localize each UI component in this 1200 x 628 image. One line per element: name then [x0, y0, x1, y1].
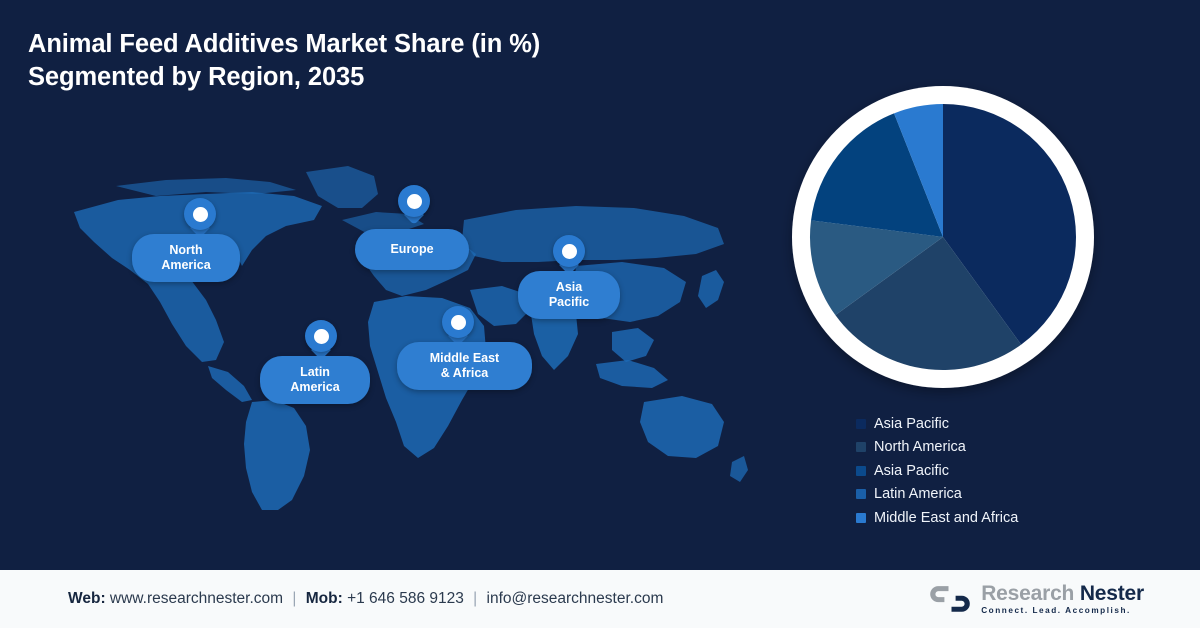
pie-chart: 40% — [770, 78, 1120, 408]
location-pin-icon — [398, 185, 430, 217]
research-nester-logo[interactable]: Research Nester Connect. Lead. Accomplis… — [928, 583, 1144, 615]
logo-name-first: Research — [981, 582, 1074, 605]
map-label-asia-pacific[interactable]: Asia Pacific — [518, 271, 620, 319]
logo-tagline: Connect. Lead. Accomplish. — [981, 607, 1144, 615]
legend-item-2[interactable]: Asia Pacific — [856, 459, 1018, 483]
location-pin-icon — [442, 306, 474, 338]
footer-bar: Web: www.researchnester.com | Mob: +1 64… — [0, 570, 1200, 628]
page-title: Animal Feed Additives Market Share (in %… — [28, 28, 728, 95]
legend-swatch-icon — [856, 513, 866, 523]
legend-label: Latin America — [874, 487, 962, 502]
location-pin-icon — [553, 235, 585, 267]
world-map: North America Europe Asia Pacific Latin … — [56, 150, 756, 510]
interlocking-brackets-logo-icon — [928, 584, 972, 614]
pie-slices — [810, 104, 1076, 370]
footer-contact: Web: www.researchnester.com | Mob: +1 64… — [68, 590, 663, 608]
legend-item-4[interactable]: Middle East and Africa — [856, 506, 1018, 530]
logo-name: Research Nester — [981, 583, 1144, 604]
legend-item-0[interactable]: Asia Pacific — [856, 412, 1018, 436]
logo-name-second: Nester — [1080, 582, 1144, 605]
legend-swatch-icon — [856, 489, 866, 499]
legend-label: North America — [874, 440, 966, 455]
legend-swatch-icon — [856, 466, 866, 476]
map-label-north-america[interactable]: North America — [132, 234, 240, 282]
map-label-middle-east-africa[interactable]: Middle East & Africa — [397, 342, 532, 390]
footer-web-value[interactable]: www.researchnester.com — [110, 590, 283, 607]
footer-mob-label: Mob: — [306, 590, 343, 607]
footer-separator-1: | — [287, 590, 301, 607]
legend-item-1[interactable]: North America — [856, 436, 1018, 460]
footer-separator-2: | — [468, 590, 482, 607]
map-label-europe[interactable]: Europe — [355, 229, 469, 270]
footer-email[interactable]: info@researchnester.com — [487, 590, 664, 607]
legend-swatch-icon — [856, 442, 866, 452]
chart-legend: Asia PacificNorth AmericaAsia PacificLat… — [856, 412, 1018, 530]
legend-label: Asia Pacific — [874, 464, 949, 479]
legend-item-3[interactable]: Latin America — [856, 483, 1018, 507]
legend-label: Middle East and Africa — [874, 511, 1018, 526]
legend-swatch-icon — [856, 419, 866, 429]
location-pin-icon — [305, 320, 337, 352]
infographic-canvas: Animal Feed Additives Market Share (in %… — [0, 0, 1200, 628]
footer-mob-value[interactable]: +1 646 586 9123 — [347, 590, 464, 607]
footer-web-label: Web: — [68, 590, 106, 607]
legend-label: Asia Pacific — [874, 417, 949, 432]
map-label-latin-america[interactable]: Latin America — [260, 356, 370, 404]
logo-wordmark: Research Nester Connect. Lead. Accomplis… — [981, 583, 1144, 615]
location-pin-icon — [184, 198, 216, 230]
